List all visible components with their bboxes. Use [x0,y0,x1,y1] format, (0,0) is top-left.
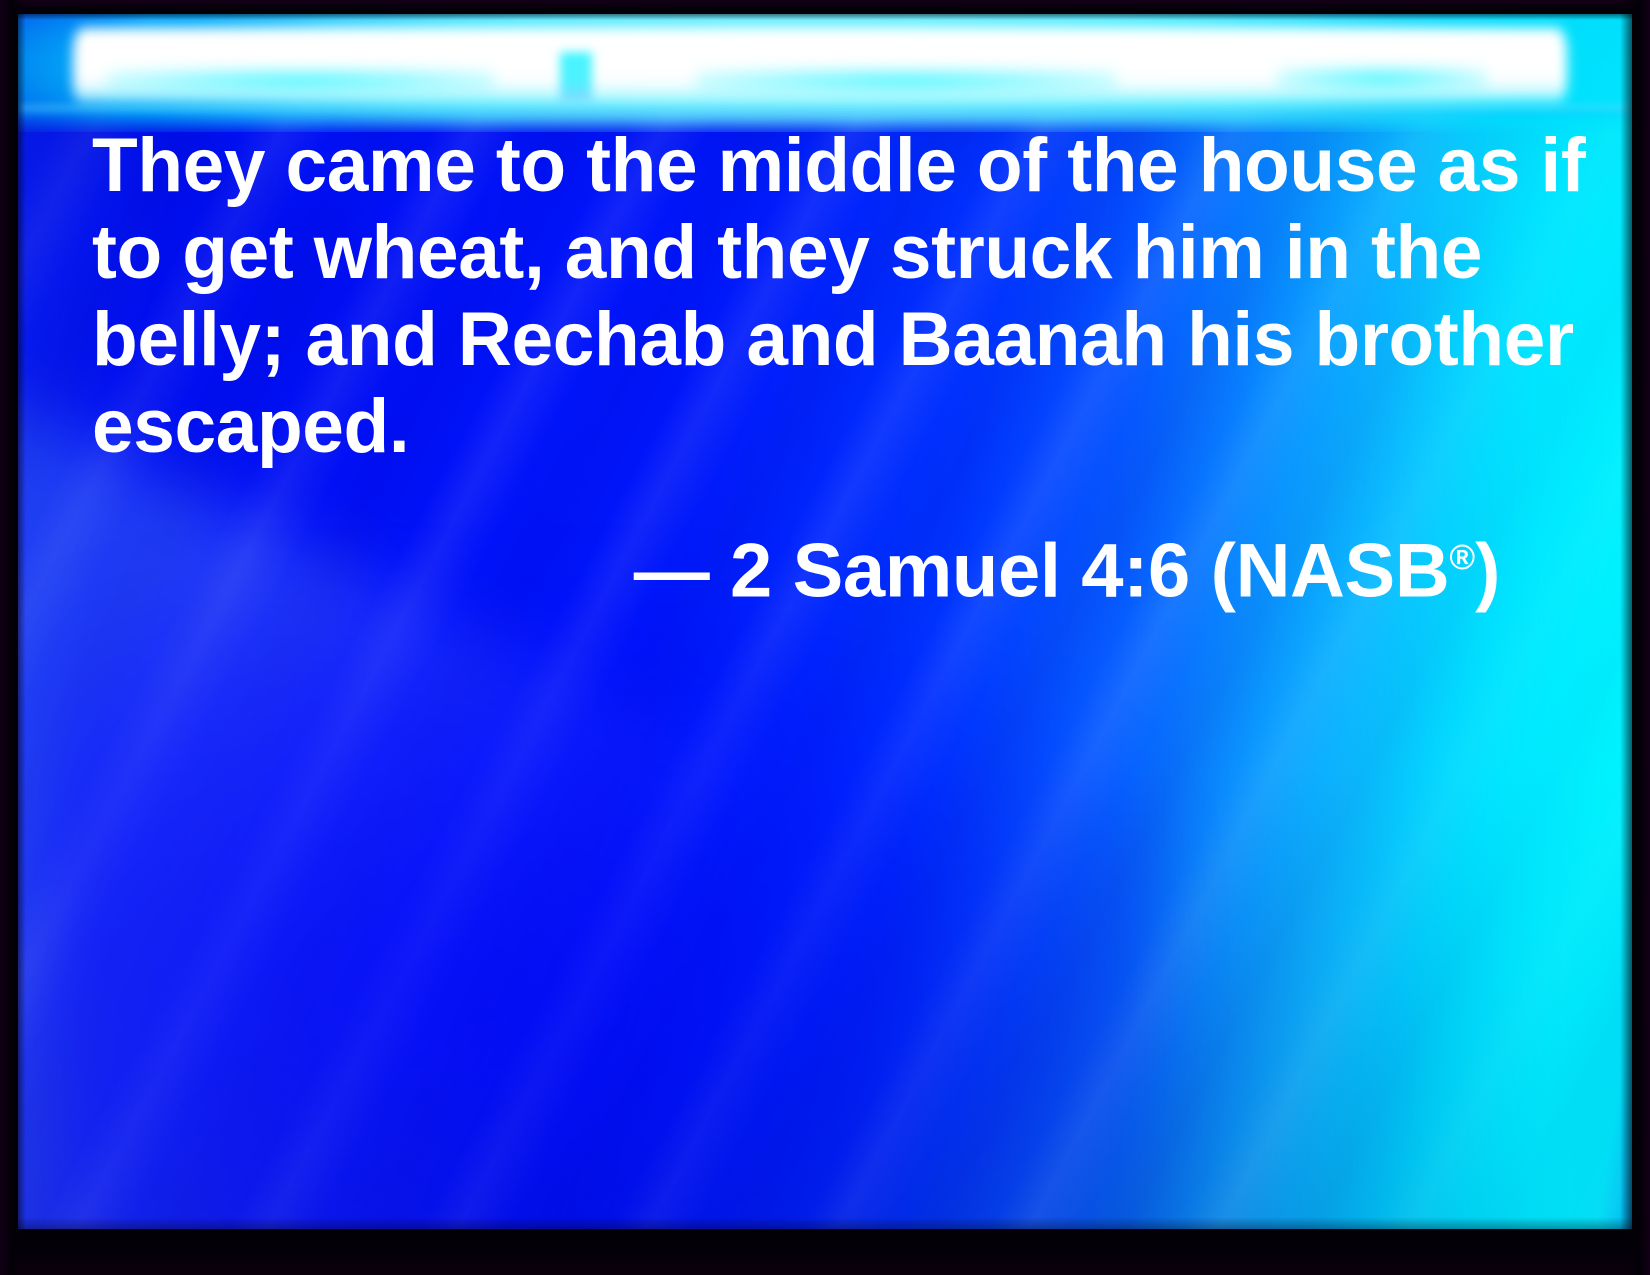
attribution-space-3 [1190,528,1211,613]
verse-line-3: belly; and Rechab and Baanah his brother [92,296,1491,383]
top-light-bar-seam [18,106,1632,116]
verse-attribution: — 2 Samuel 4:6 (NASB®) [92,514,1512,614]
attribution-open-paren: ( [1211,528,1236,613]
top-light-bar-notch [560,52,592,100]
top-light-bar-wisp-left [107,68,494,94]
top-light-bar [18,14,1632,132]
attribution-space-2 [1061,528,1082,613]
attribution-space-1 [709,528,730,613]
attribution-close-paren: ) [1475,528,1500,613]
attribution-translation: NASB [1236,528,1450,613]
registered-trademark-icon: ® [1449,538,1475,577]
attribution-book: 2 Samuel [730,528,1061,613]
attribution-em-dash: — [634,528,710,613]
top-light-bar-wisp-right [1277,66,1487,92]
verse-line-1: They came to the middle of the house as … [92,122,1491,209]
verse-line-2: to get wheat, and they struck him in the [92,209,1491,296]
background-deep-blue-pool [50,573,1180,1229]
verse-text-block: They came to the middle of the house as … [92,122,1512,614]
verse-line-4: escaped. [92,383,1491,470]
attribution-chapter-verse: 4:6 [1081,528,1190,613]
top-light-bar-wisp-center [696,68,1116,94]
slide-canvas: They came to the middle of the house as … [18,14,1632,1229]
slide-frame: They came to the middle of the house as … [0,0,1650,1275]
